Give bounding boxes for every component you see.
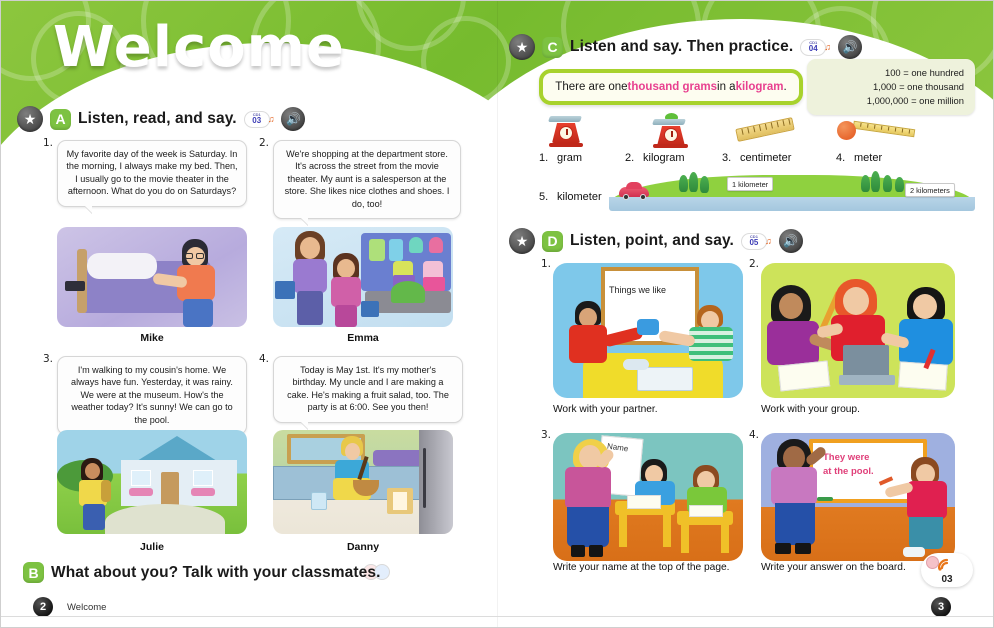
ar-badge-number: 03: [921, 574, 973, 585]
section-d-letter: D: [542, 231, 563, 252]
item-number: 1.: [541, 258, 551, 270]
section-a-letter: A: [50, 109, 71, 130]
speaker-icon[interactable]: 🔊: [779, 229, 803, 253]
item-number: 3.: [541, 429, 551, 441]
picture-caption: Work with your partner.: [553, 404, 658, 415]
board-text: Things we like: [609, 285, 666, 295]
picture-caption: Write your name at the top of the page.: [553, 562, 730, 573]
speech-bubble: Today is May 1st. It's my mother's birth…: [273, 356, 463, 423]
sentence-highlight1: thousand grams: [628, 81, 717, 93]
sentence-part2: in a: [717, 81, 736, 93]
sentence-part1: There are one: [555, 81, 627, 93]
page-spine: [497, 1, 498, 628]
number-chart-row: 1,000,000 = one million: [818, 94, 964, 108]
item-number: 4.: [259, 353, 269, 365]
right-page-number: 3: [931, 597, 951, 617]
number-chart-row: 100 = one hundred: [818, 66, 964, 80]
star-icon: ★: [509, 34, 535, 60]
picture-caption: Work with your group.: [761, 404, 860, 415]
section-c-header: ★ C Listen and say. Then practice. CD1 0…: [509, 34, 862, 60]
illustration-emma: [273, 227, 453, 327]
illustration-caption: Danny: [273, 541, 453, 553]
item-number: 4.: [749, 429, 759, 441]
sentence-part3: .: [784, 81, 787, 93]
item-number: 3.: [43, 353, 53, 365]
illustration-julie: [57, 430, 247, 534]
board-line2: at the pool.: [823, 466, 874, 477]
speech-bubble: We're shopping at the department store. …: [273, 140, 461, 219]
road-scene-icon: 1 kilometer 2 kilometers: [609, 169, 975, 211]
section-d-audio-badge[interactable]: CD1 05 ♫: [741, 233, 772, 250]
section-b-title: What about you? Talk with your classmate…: [51, 564, 380, 582]
section-a-header: ★ A Listen, read, and say. CD1 03 ♫ 🔊: [17, 106, 305, 132]
sentence-highlight2: kilogram: [736, 81, 784, 93]
model-sentence-box: There are one thousand grams in a kilogr…: [539, 69, 803, 105]
road-tag-2km: 2 kilometers: [905, 183, 955, 197]
section-b-letter: B: [23, 562, 44, 583]
illustration-write-name: Name: [553, 433, 743, 561]
section-d-title: Listen, point, and say.: [570, 232, 734, 250]
unit-number: 2.: [625, 152, 634, 164]
page-title: Welcome: [53, 15, 345, 80]
picture-caption: Write your answer on the board.: [761, 562, 906, 573]
illustration-work-with-group: [761, 263, 955, 398]
star-icon: ★: [17, 106, 43, 132]
left-page-number: 2: [33, 597, 53, 617]
item-number: 2.: [259, 137, 269, 149]
speaker-icon[interactable]: 🔊: [838, 35, 862, 59]
section-d-header: ★ D Listen, point, and say. CD1 05 ♫ 🔊: [509, 228, 803, 254]
unit-number: 3.: [722, 152, 731, 164]
wifi-icon: [937, 556, 959, 572]
speaker-icon[interactable]: 🔊: [281, 107, 305, 131]
speech-bubble: My favorite day of the week is Saturday.…: [57, 140, 247, 207]
kitchen-scale-icon: [547, 116, 587, 150]
left-page-label: Welcome: [67, 602, 106, 613]
illustration-write-answer: They were at the pool.: [761, 433, 955, 561]
section-c-audio-badge[interactable]: CD1 04 ♫: [800, 39, 831, 56]
illustration-caption: Mike: [57, 332, 247, 344]
unit-label-kilogram: kilogram: [643, 152, 685, 164]
number-chart-row: 1,000 = one thousand: [818, 80, 964, 94]
audio-wave-icon: ♫: [268, 114, 275, 124]
audio-wave-icon: ♫: [765, 236, 772, 246]
illustration-danny: [273, 430, 453, 534]
ar-app-badge[interactable]: 03: [921, 553, 973, 587]
section-c-title: Listen and say. Then practice.: [570, 38, 793, 56]
unit-number: 1.: [539, 152, 548, 164]
star-icon: ★: [509, 228, 535, 254]
illustration-work-with-partner: Things we like: [553, 263, 743, 398]
illustration-caption: Julie: [57, 541, 247, 553]
unit-label-gram: gram: [557, 152, 582, 164]
number-chart-box: 100 = one hundred 1,000 = one thousand 1…: [807, 59, 975, 115]
section-a-audio-badge[interactable]: CD1 03 ♫: [244, 111, 275, 128]
speech-bubble: I'm walking to my cousin's home. We alwa…: [57, 356, 247, 435]
cd-track-badge: CD1 03: [244, 111, 270, 128]
face-icon: [926, 556, 939, 569]
page-bottom-rule: [1, 616, 993, 617]
unit-number: 5.: [539, 191, 548, 203]
section-a-title: Listen, read, and say.: [78, 110, 237, 128]
cd-track-badge: CD1 05: [741, 233, 767, 250]
unit-label-meter: meter: [854, 152, 882, 164]
illustration-mike: [57, 227, 247, 327]
textbook-spread: Welcome ★ A Listen, read, and say. CD1 0…: [0, 0, 994, 628]
tape-measure-icon: [837, 119, 927, 145]
board-line1: They were: [823, 452, 869, 463]
unit-label-centimeter: centimeter: [740, 152, 791, 164]
produce-scale-icon: [651, 113, 695, 150]
cd-track-badge: CD1 04: [800, 39, 826, 56]
item-number: 1.: [43, 137, 53, 149]
section-b-header: B What about you? Talk with your classma…: [23, 562, 380, 583]
road-tag-1km: 1 kilometer: [727, 177, 773, 191]
unit-number: 4.: [836, 152, 845, 164]
section-c-letter: C: [542, 37, 563, 58]
audio-wave-icon: ♫: [824, 42, 831, 52]
item-number: 2.: [749, 258, 759, 270]
illustration-caption: Emma: [273, 332, 453, 344]
unit-label-kilometer: kilometer: [557, 191, 602, 203]
